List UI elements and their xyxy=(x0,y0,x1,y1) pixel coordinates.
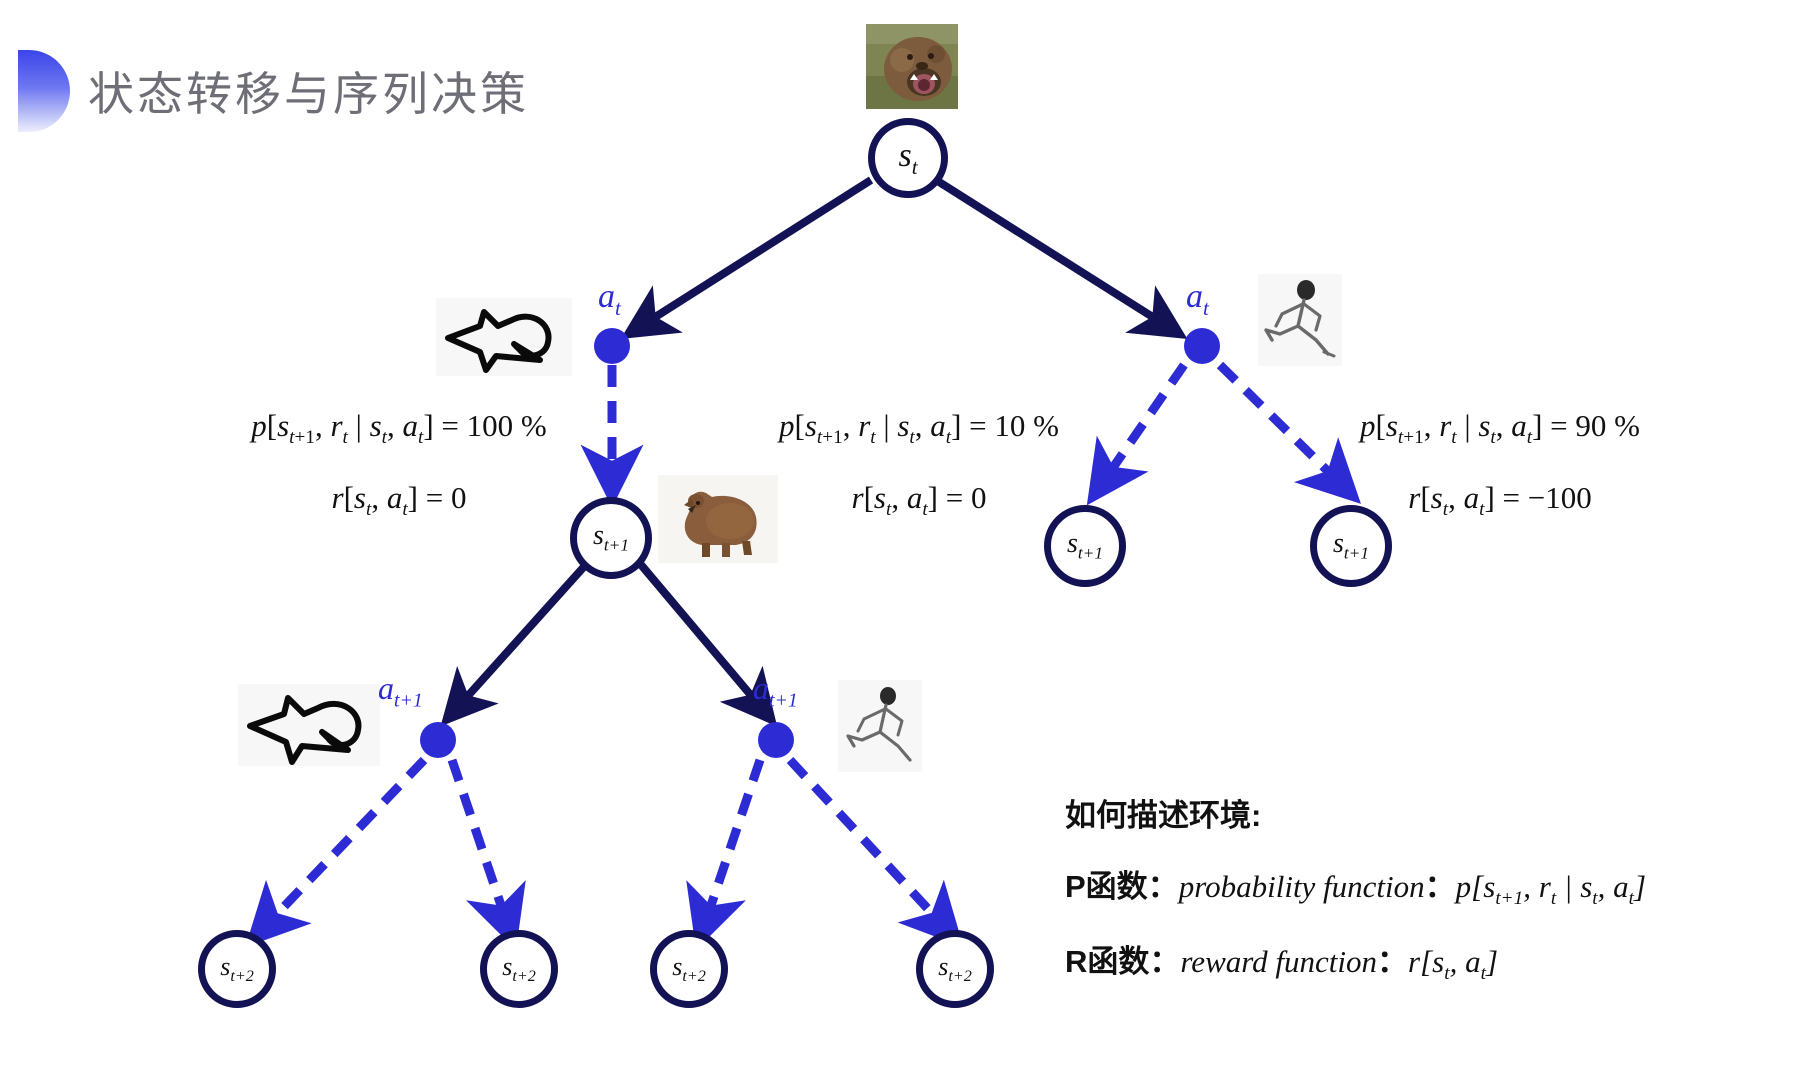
edge-action-right2-to-state-b xyxy=(790,760,955,938)
state-node-st2-1[interactable]: st+2 xyxy=(198,930,276,1008)
lying-down-person-icon xyxy=(436,298,572,376)
formula-middle: p[st+1, rt | st, at] = 10 % r[st, at] = … xyxy=(742,400,1096,526)
edge-root-to-action-left xyxy=(630,180,871,333)
legend-r-label: R函数： xyxy=(1065,944,1180,979)
state-node-label: st+1 xyxy=(1333,528,1369,564)
legend-heading: 如何描述环境: xyxy=(1065,790,1646,835)
action-node-at1-right[interactable] xyxy=(758,722,794,758)
action-label-at1-right: at+1 xyxy=(753,670,798,712)
formula-left: p[st+1, rt | st, at] = 100 % r[st, at] =… xyxy=(218,400,580,526)
action-node-at1-left[interactable] xyxy=(420,722,456,758)
state-node-label: st+2 xyxy=(502,952,536,986)
edge-state-to-action-left2 xyxy=(448,560,590,718)
state-node-st2-3[interactable]: st+2 xyxy=(650,930,728,1008)
edge-action-left2-to-state-b xyxy=(452,760,512,938)
state-node-st2-2[interactable]: st+2 xyxy=(480,930,558,1008)
legend-r-separator: ： xyxy=(1377,944,1408,979)
state-node-label: st xyxy=(898,137,917,180)
state-node-label: st+1 xyxy=(593,520,629,556)
action-node-at-right[interactable] xyxy=(1184,328,1220,364)
state-node-label: st+2 xyxy=(672,952,706,986)
running-person-icon xyxy=(1258,274,1342,366)
formula-middle-reward: r[st, at] = 0 xyxy=(742,472,1096,526)
state-node-st[interactable]: st xyxy=(868,118,948,198)
legend-p-formula: p[st+1, rt | st, at] xyxy=(1456,869,1646,904)
legend-row-r-function: R函数：reward function：r[st, at] xyxy=(1065,936,1646,985)
bear-roaring-photo xyxy=(866,24,958,109)
legend-r-formula: r[st, at] xyxy=(1408,944,1498,979)
formula-left-probability: p[st+1, rt | st, at] = 100 % xyxy=(218,400,580,454)
action-label-at1-left: at+1 xyxy=(378,670,423,712)
edge-action-right2-to-state-a xyxy=(700,760,760,938)
edge-action-right-to-state-a xyxy=(1094,365,1184,495)
legend-p-label: P函数： xyxy=(1065,869,1179,904)
state-node-label: st+2 xyxy=(938,952,972,986)
edge-root-to-action-right xyxy=(936,180,1178,333)
state-node-st1-left[interactable]: st+1 xyxy=(570,497,652,579)
legend-r-english: reward function xyxy=(1180,944,1377,979)
formula-right-probability: p[st+1, rt | st, at] = 90 % xyxy=(1300,400,1700,454)
edge-state-to-action-right2 xyxy=(637,560,770,718)
state-node-label: st+2 xyxy=(220,952,254,986)
legend-row-p-function: P函数：probability function：p[st+1, rt | st… xyxy=(1065,861,1646,910)
legend-p-separator: ： xyxy=(1425,869,1456,904)
environment-description-legend: 如何描述环境: P函数：probability function：p[st+1,… xyxy=(1065,790,1646,1011)
legend-p-english: probability function xyxy=(1179,869,1425,904)
state-node-label: st+1 xyxy=(1067,528,1103,564)
action-label-at-left: at xyxy=(598,278,621,321)
lying-down-person-icon xyxy=(238,684,380,766)
header-accent-shape xyxy=(18,50,70,132)
page-title: 状态转移与序列决策 xyxy=(88,58,529,124)
formula-middle-probability: p[st+1, rt | st, at] = 10 % xyxy=(742,400,1096,454)
edge-action-left2-to-state-a xyxy=(254,760,424,938)
action-label-at-right: at xyxy=(1186,278,1209,321)
state-node-st1-right[interactable]: st+1 xyxy=(1310,505,1392,587)
formula-left-reward: r[st, at] = 0 xyxy=(218,472,580,526)
running-person-icon xyxy=(838,680,922,772)
state-node-st1-middle[interactable]: st+1 xyxy=(1044,505,1126,587)
state-node-st2-4[interactable]: st+2 xyxy=(916,930,994,1008)
action-node-at-left[interactable] xyxy=(594,328,630,364)
